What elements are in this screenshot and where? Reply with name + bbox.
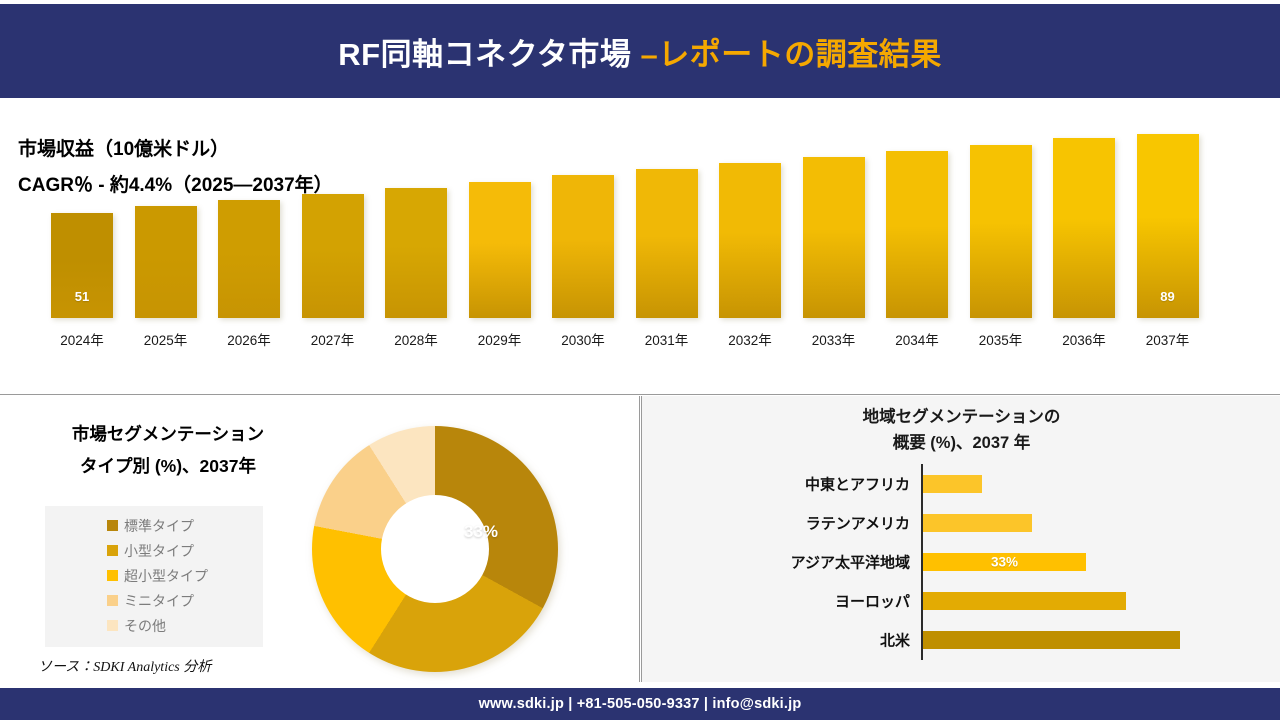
regional-plot: 中東とアフリカラテンアメリカアジア太平洋地域33%ヨーロッパ北米 xyxy=(642,462,1280,672)
revenue-bar-column: 2026年 xyxy=(213,200,285,318)
regional-bar xyxy=(923,514,1032,532)
revenue-bar xyxy=(1053,138,1115,318)
regional-bar-label: 中東とアフリカ xyxy=(642,473,910,494)
revenue-bar-year-label: 2033年 xyxy=(794,329,874,349)
legend-item-label: 超小型タイプ xyxy=(124,566,208,586)
revenue-bar-year-label: 2029年 xyxy=(460,329,540,349)
segmentation-title: 市場セグメンテーション タイプ別 (%)、2037年 xyxy=(18,418,318,482)
revenue-bar xyxy=(218,200,280,318)
segmentation-donut-chart: 33% xyxy=(312,426,558,672)
revenue-bar xyxy=(469,182,531,318)
regional-bar-row: 北米 xyxy=(642,620,1280,659)
page-title: RF同軸コネクタ市場 –レポートの調査結果 xyxy=(338,29,941,74)
revenue-bar-column: 2033年 xyxy=(798,157,870,318)
segmentation-title-line2: タイプ別 (%)、2037年 xyxy=(18,450,318,482)
revenue-bar-year-label: 2037年 xyxy=(1128,329,1208,349)
regional-bar xyxy=(923,592,1126,610)
revenue-bar-year-label: 2031年 xyxy=(627,329,707,349)
revenue-bar xyxy=(886,151,948,318)
revenue-bar xyxy=(385,188,447,318)
legend-item[interactable]: ミニタイプ xyxy=(45,588,263,613)
legend-swatch-icon xyxy=(107,620,118,631)
legend-item[interactable]: 小型タイプ xyxy=(45,538,263,563)
regional-title: 地域セグメンテーションの 概要 (%)、2037 年 xyxy=(642,404,1280,456)
revenue-bar-year-label: 2032年 xyxy=(710,329,790,349)
revenue-bar xyxy=(803,157,865,318)
revenue-bar-year-label: 2030年 xyxy=(543,329,623,349)
regional-bar-value: 33% xyxy=(923,554,1086,569)
legend-item[interactable]: 超小型タイプ xyxy=(45,563,263,588)
page-title-accent: –レポートの調査結果 xyxy=(640,37,941,72)
revenue-bar xyxy=(302,194,364,318)
revenue-bar-column: 2025年 xyxy=(130,206,202,318)
regional-title-line1: 地域セグメンテーションの xyxy=(642,404,1280,430)
page-footer: www.sdki.jp | +81-505-050-9337 | info@sd… xyxy=(0,688,1280,720)
regional-bar xyxy=(923,475,982,493)
revenue-bar-column: 2035年 xyxy=(965,145,1037,318)
legend-item-label: ミニタイプ xyxy=(124,591,194,611)
regional-bar-row: 中東とアフリカ xyxy=(642,464,1280,503)
revenue-bar-column: 2028年 xyxy=(380,188,452,318)
regional-bar-row: ラテンアメリカ xyxy=(642,503,1280,542)
revenue-bar-year-label: 2034年 xyxy=(877,329,957,349)
source-note: ソース：SDKI Analytics 分析 xyxy=(38,656,211,676)
revenue-bar-column: 2034年 xyxy=(881,151,953,318)
donut-hole xyxy=(381,495,489,603)
page-title-main: RF同軸コネクタ市場 xyxy=(338,37,640,72)
revenue-bar-year-label: 2024年 xyxy=(42,329,122,349)
legend-swatch-icon xyxy=(107,545,118,556)
revenue-bar-value: 51 xyxy=(46,289,118,304)
revenue-bar-column: 2027年 xyxy=(297,194,369,318)
revenue-bar-column: 2030年 xyxy=(547,175,619,318)
revenue-bar-column: 2029年 xyxy=(464,182,536,318)
revenue-bar xyxy=(135,206,197,318)
regional-section: 地域セグメンテーションの 概要 (%)、2037 年 中東とアフリカラテンアメリ… xyxy=(641,396,1280,682)
revenue-bar xyxy=(636,169,698,318)
legend-swatch-icon xyxy=(107,570,118,581)
regional-bar-label: ヨーロッパ xyxy=(642,590,910,611)
revenue-bar xyxy=(552,175,614,318)
donut-value-label: 33% xyxy=(464,522,498,542)
revenue-bar-column: 512024年 xyxy=(46,213,118,318)
legend-item[interactable]: その他 xyxy=(45,613,263,638)
legend-item-label: その他 xyxy=(124,616,166,636)
revenue-bars-area: 512024年2025年2026年2027年2028年2029年2030年203… xyxy=(46,118,1236,356)
revenue-bar-column: 892037年 xyxy=(1132,134,1204,318)
revenue-bar-value: 89 xyxy=(1132,289,1204,304)
revenue-bar-year-label: 2027年 xyxy=(293,329,373,349)
legend-swatch-icon xyxy=(107,595,118,606)
segmentation-title-line1: 市場セグメンテーション xyxy=(18,418,318,450)
revenue-bar xyxy=(719,163,781,318)
revenue-bar xyxy=(970,145,1032,318)
regional-bar xyxy=(923,631,1180,649)
page-header: RF同軸コネクタ市場 –レポートの調査結果 xyxy=(0,4,1280,98)
legend-item[interactable]: 標準タイプ xyxy=(45,513,263,538)
revenue-bar-year-label: 2025年 xyxy=(126,329,206,349)
revenue-bar-year-label: 2028年 xyxy=(376,329,456,349)
legend-item-label: 標準タイプ xyxy=(124,516,194,536)
revenue-bar-year-label: 2036年 xyxy=(1044,329,1124,349)
revenue-chart-section: 市場収益（10億米ドル） CAGR％ - 約4.4%（2025―2037年） 5… xyxy=(0,100,1280,395)
revenue-bar-year-label: 2035年 xyxy=(961,329,1041,349)
regional-bar-row: アジア太平洋地域33% xyxy=(642,542,1280,581)
legend-swatch-icon xyxy=(107,520,118,531)
regional-bar-label: ラテンアメリカ xyxy=(642,512,910,533)
segmentation-legend: 標準タイプ小型タイプ超小型タイプミニタイプその他 xyxy=(45,506,263,647)
revenue-bar-column: 2036年 xyxy=(1048,138,1120,318)
regional-bar-row: ヨーロッパ xyxy=(642,581,1280,620)
revenue-bar-column: 2031年 xyxy=(631,169,703,318)
regional-bar-label: 北米 xyxy=(642,629,910,650)
legend-item-label: 小型タイプ xyxy=(124,541,194,561)
revenue-bar-column: 2032年 xyxy=(714,163,786,318)
regional-title-line2: 概要 (%)、2037 年 xyxy=(642,430,1280,456)
regional-bar-label: アジア太平洋地域 xyxy=(642,551,910,572)
segmentation-section: 市場セグメンテーション タイプ別 (%)、2037年 標準タイプ小型タイプ超小型… xyxy=(0,396,640,682)
revenue-bar-year-label: 2026年 xyxy=(209,329,289,349)
footer-contact: www.sdki.jp | +81-505-050-9337 | info@sd… xyxy=(479,696,802,712)
